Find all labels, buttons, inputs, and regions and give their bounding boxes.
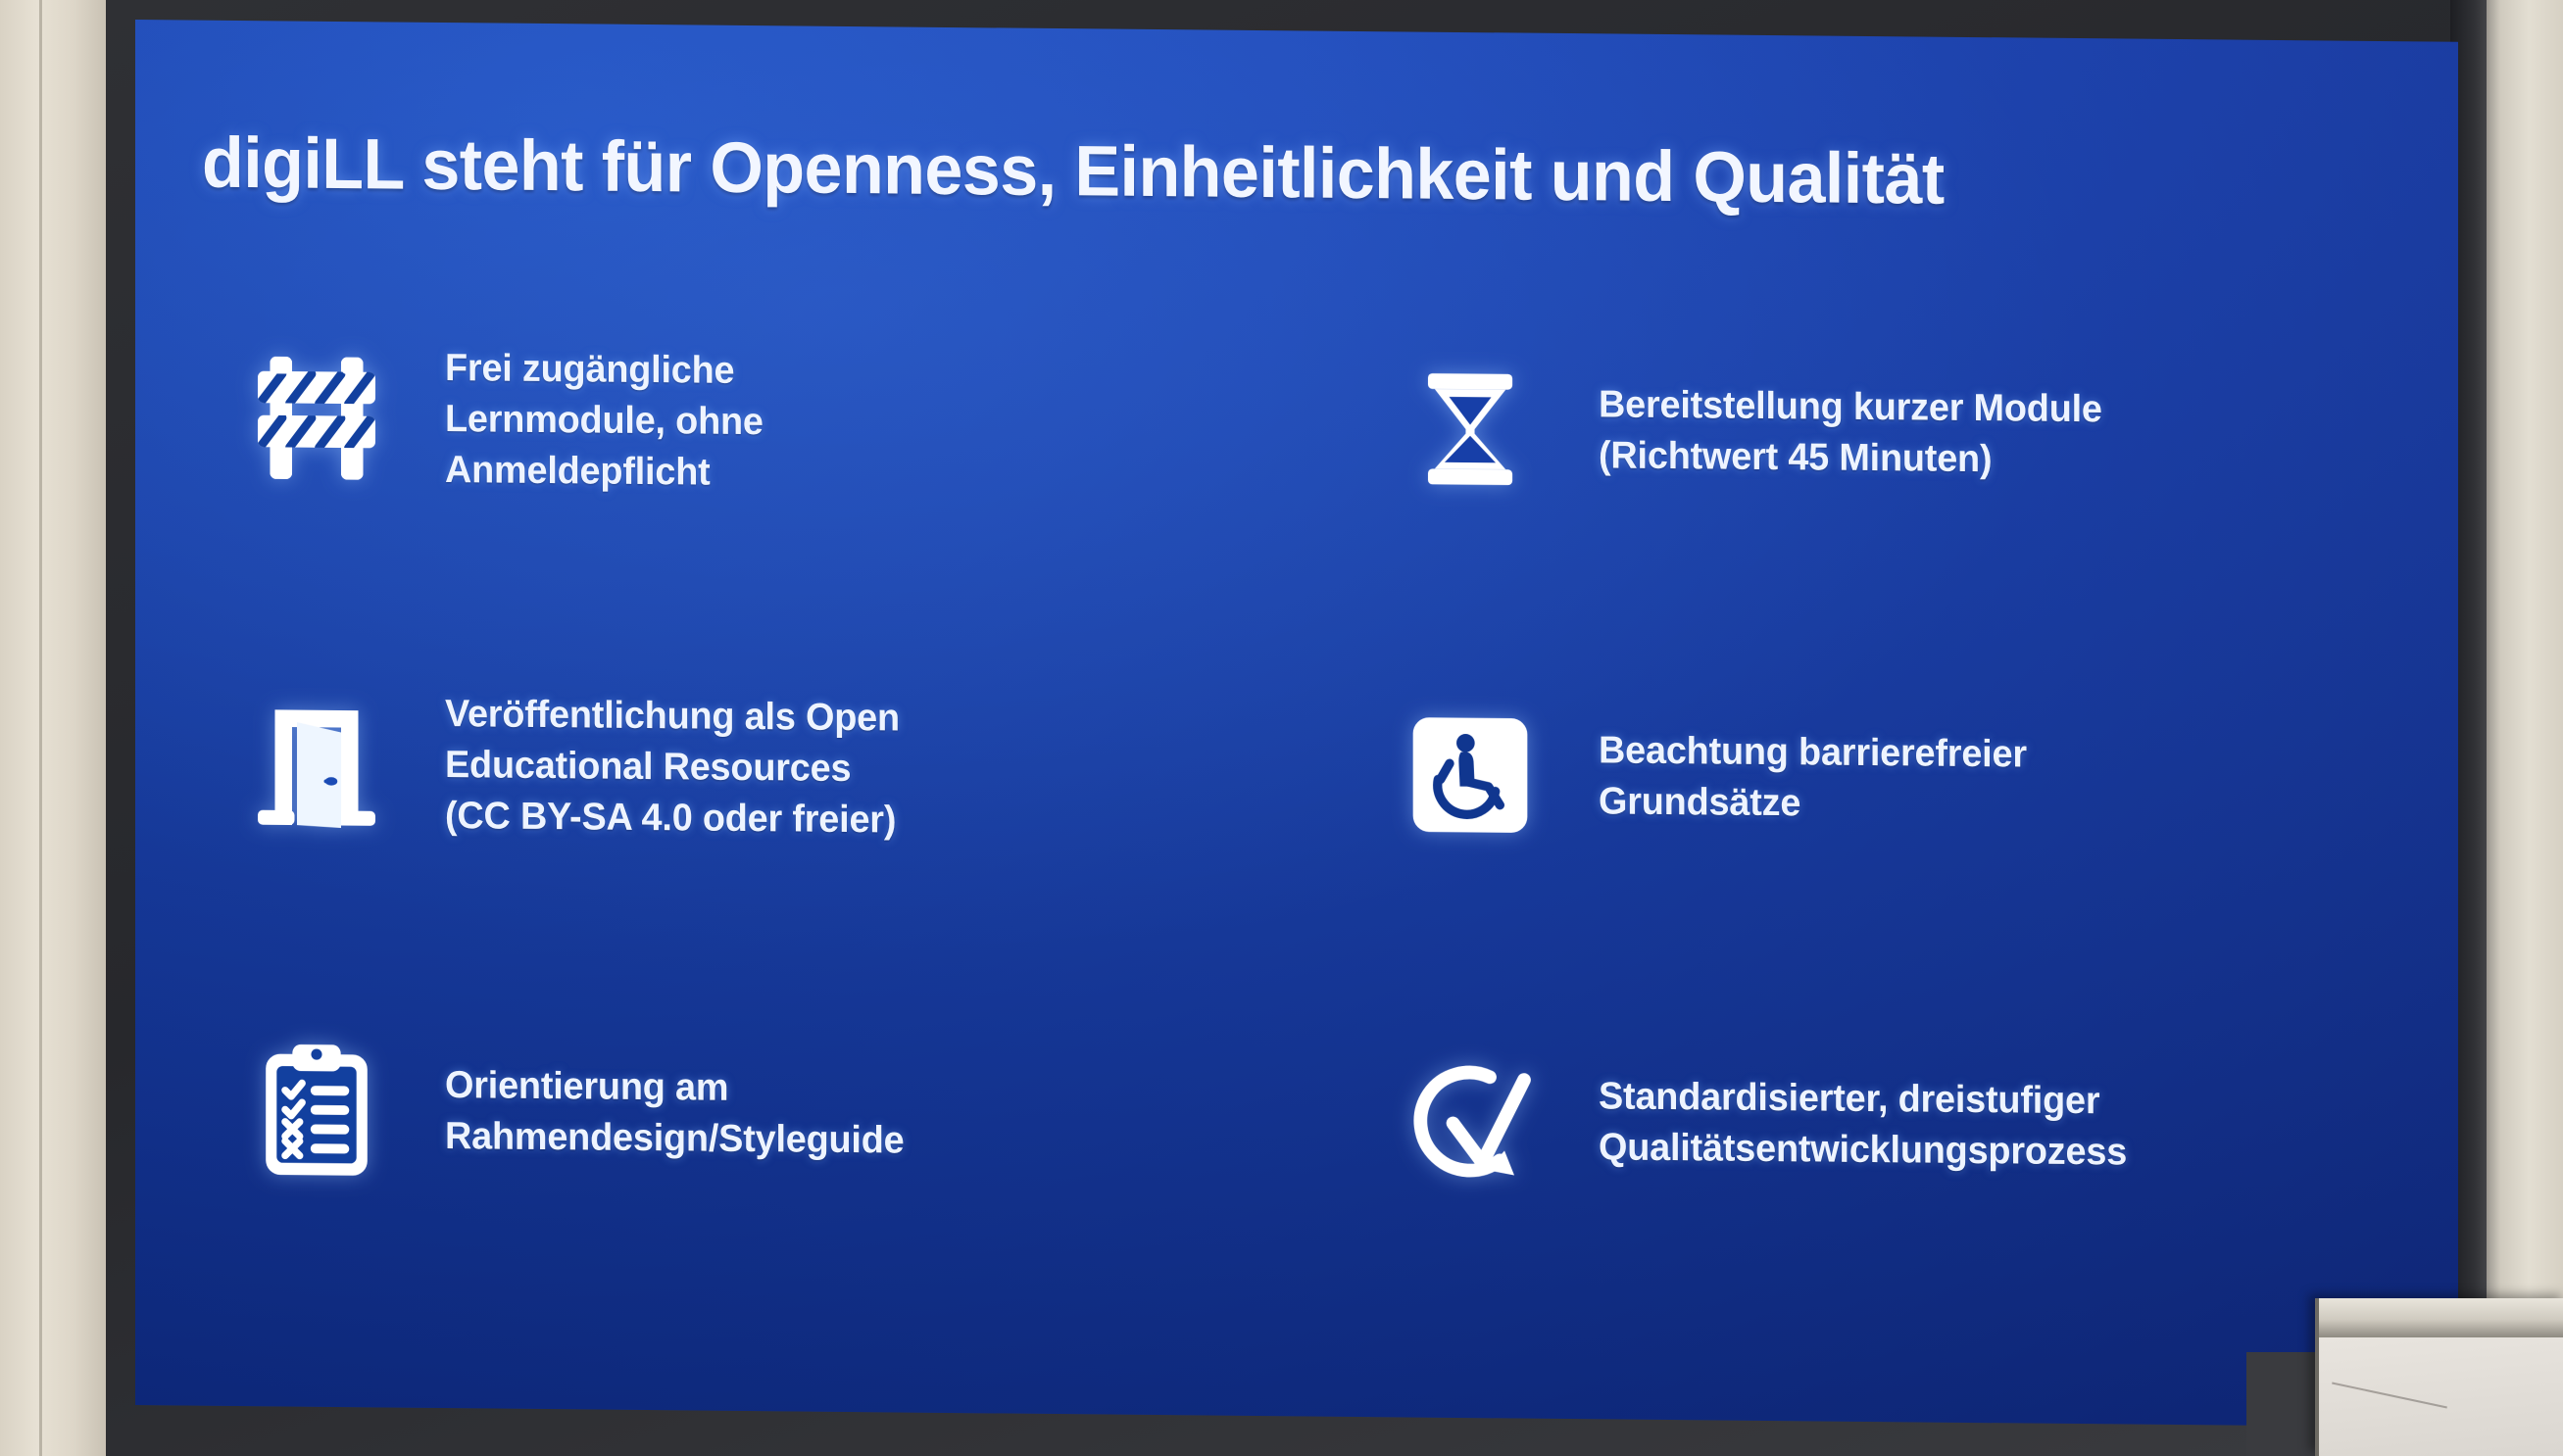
item-line: Orientierung am xyxy=(445,1061,905,1116)
checkmark-cycle-icon xyxy=(1387,1038,1553,1206)
item-line: Standardisierter, dreistufiger xyxy=(1599,1072,2127,1128)
wall-seam xyxy=(39,0,42,1456)
content-item-text: Beachtung barrierefreier Grundsätze xyxy=(1599,725,2027,831)
content-item-text: Frei zugängliche Lernmodule, ohne Anmeld… xyxy=(445,343,764,499)
flipchart-board xyxy=(2315,1298,2563,1456)
item-line: Qualitätsentwicklungsprozess xyxy=(1599,1123,2127,1179)
content-item-orientierung-rahmendesign: Orientierung am Rahmendesign/Styleguide xyxy=(214,936,1273,1292)
content-item-frei-zugaengliche-lernmodule: Frei zugängliche Lernmodule, ohne Anmeld… xyxy=(214,244,1273,601)
item-line: Lernmodule, ohne xyxy=(445,394,764,448)
open-door-icon xyxy=(233,680,400,849)
content-item-text: Bereitstellung kurzer Module (Richtwert … xyxy=(1599,379,2102,486)
flipchart-paper xyxy=(2319,1337,2563,1456)
wheelchair-accessibility-icon xyxy=(1387,691,1553,859)
item-line: (Richtwert 45 Minuten) xyxy=(1599,430,2102,486)
content-item-beachtung-barrierefreier-grundsaetze: Beachtung barrierefreier Grundsätze xyxy=(1330,601,2390,957)
paper-crease xyxy=(2332,1383,2447,1409)
hourglass-icon xyxy=(1387,345,1553,513)
content-item-qualitaetsentwicklungsprozess: Standardisierter, dreistufiger Qualitäts… xyxy=(1330,946,2390,1303)
content-item-text: Veröffentlichung als Open Educational Re… xyxy=(445,689,900,846)
content-item-text: Orientierung am Rahmendesign/Styleguide xyxy=(445,1061,905,1167)
content-grid: Frei zugängliche Lernmodule, ohne Anmeld… xyxy=(214,244,2390,1303)
item-line: Anmeldepflicht xyxy=(445,445,764,499)
slide-title: digiLL steht für Openness, Einheitlichke… xyxy=(202,126,2253,221)
barrier-icon xyxy=(233,334,400,503)
room-background: digiLL steht für Openness, Einheitlichke… xyxy=(0,0,2563,1456)
item-line: Rahmendesign/Styleguide xyxy=(445,1111,905,1166)
item-line: Educational Resources xyxy=(445,740,900,795)
item-line: Veröffentlichung als Open xyxy=(445,689,900,744)
content-item-bereitstellung-kurzer-module: Bereitstellung kurzer Module (Richtwert … xyxy=(1330,255,2390,611)
item-line: (CC BY-SA 4.0 oder freier) xyxy=(445,791,900,846)
item-line: Bereitstellung kurzer Module xyxy=(1599,379,2102,435)
clipboard-checklist-icon xyxy=(233,1026,400,1194)
item-line: Beachtung barrierefreier xyxy=(1599,725,2027,780)
wall-left xyxy=(0,0,106,1456)
item-line: Grundsätze xyxy=(1599,776,2027,831)
item-line: Frei zugängliche xyxy=(445,343,764,397)
bezel-bottom-gap xyxy=(2246,1352,2325,1456)
flipchart-tray xyxy=(2319,1298,2563,1337)
presentation-slide: digiLL steht für Openness, Einheitlichke… xyxy=(135,20,2458,1428)
wall-right xyxy=(2487,0,2563,1456)
content-item-veroeffentlichung-oer: Veröffentlichung als Open Educational Re… xyxy=(214,590,1273,946)
content-item-text: Standardisierter, dreistufiger Qualitäts… xyxy=(1599,1072,2127,1179)
